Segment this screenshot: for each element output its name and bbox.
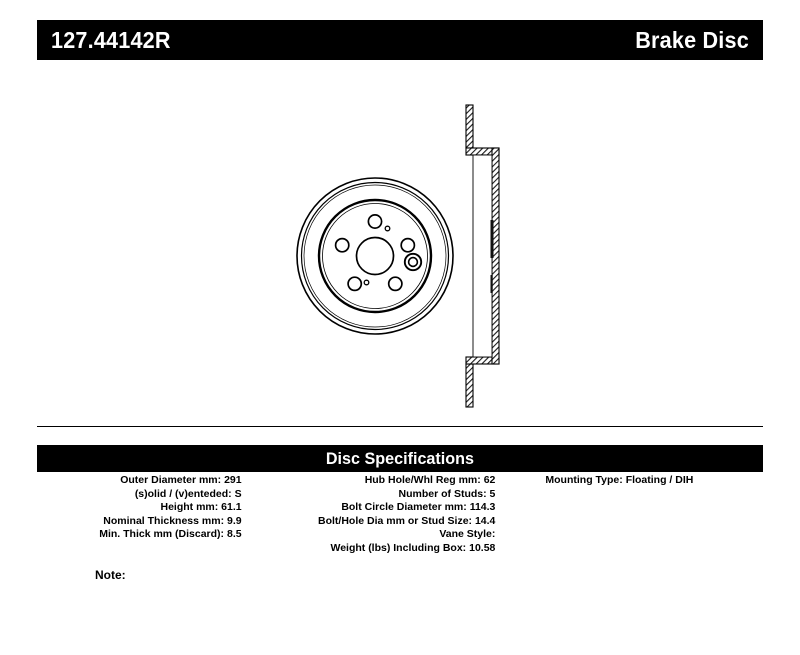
spec-value: 5	[490, 488, 496, 500]
brake-disc-drawing-svg	[0, 70, 800, 420]
spec-label: Weight (lbs) Including Box:	[330, 542, 466, 554]
spec-value: 9.9	[227, 515, 242, 527]
spec-column-middle: Hub Hole/Whl Reg mm: 62 Number of Studs:…	[242, 474, 496, 556]
spec-section-bar: Disc Specifications	[37, 445, 763, 472]
spec-section-title: Disc Specifications	[326, 449, 474, 469]
spec-row: Outer Diameter mm: 291	[37, 474, 242, 488]
spec-label: Height mm:	[160, 501, 218, 513]
stud-hole	[401, 239, 414, 252]
spec-label: Vane Style:	[439, 528, 495, 540]
spec-row: Bolt/Hole Dia mm or Stud Size: 14.4	[254, 515, 496, 529]
spec-row: Mounting Type: Floating / DIH	[545, 474, 763, 488]
spec-value: 14.4	[475, 515, 495, 527]
spec-label: Number of Studs:	[399, 488, 487, 500]
locating-pin-hole	[385, 226, 390, 231]
core-mark	[491, 275, 493, 293]
title-bar: 127.44142R Brake Disc	[37, 20, 763, 60]
part-number-label: 127.44142R	[51, 27, 171, 54]
locating-pin-hole	[364, 280, 369, 285]
spec-row: Height mm: 61.1	[37, 501, 242, 515]
spec-row: Min. Thick mm (Discard): 8.5	[37, 528, 242, 542]
spec-value: 291	[224, 474, 242, 486]
brake-disc-front-view	[297, 178, 453, 334]
spec-columns: Outer Diameter mm: 291 (s)olid / (v)ente…	[37, 474, 763, 556]
stud-hole	[389, 277, 402, 290]
hat-flange-top	[466, 105, 473, 148]
spec-label: Min. Thick mm (Discard):	[99, 528, 224, 540]
spec-value: Floating / DIH	[626, 474, 694, 486]
spec-value: 114.3	[470, 501, 496, 513]
spec-row: Nominal Thickness mm: 9.9	[37, 515, 242, 529]
threaded-hole-inner	[409, 258, 418, 267]
spec-row: Bolt Circle Diameter mm: 114.3	[254, 501, 496, 515]
spec-label: Hub Hole/Whl Reg mm:	[365, 474, 481, 486]
brake-disc-side-section-view	[466, 105, 499, 407]
spec-divider	[37, 426, 763, 427]
spec-row: Vane Style:	[254, 528, 496, 542]
product-type-label: Brake Disc	[635, 27, 749, 54]
note-label: Note:	[95, 568, 126, 582]
spec-value: 10.58	[469, 542, 495, 554]
spec-column-right: Mounting Type: Floating / DIH	[495, 474, 763, 488]
spec-label: Bolt/Hole Dia mm or Stud Size:	[318, 515, 472, 527]
note-block: Note:	[37, 568, 763, 648]
spec-row: (s)olid / (v)enteded: S	[37, 488, 242, 502]
disc-body-cavity	[473, 155, 492, 357]
spec-value: S	[235, 488, 242, 500]
spec-row: Hub Hole/Whl Reg mm: 62	[254, 474, 496, 488]
spec-label: Outer Diameter mm:	[120, 474, 221, 486]
spec-value: 62	[484, 474, 496, 486]
technical-drawing	[0, 70, 800, 420]
hat-flange-bottom	[466, 364, 473, 407]
spec-column-left: Outer Diameter mm: 291 (s)olid / (v)ente…	[37, 474, 242, 542]
spec-label: Nominal Thickness mm:	[103, 515, 224, 527]
spec-label: Mounting Type:	[545, 474, 622, 486]
spec-value: 8.5	[227, 528, 242, 540]
spec-label: (s)olid / (v)enteded:	[135, 488, 232, 500]
stud-hole	[336, 239, 349, 252]
stud-hole	[368, 215, 381, 228]
spec-row: Weight (lbs) Including Box: 10.58	[254, 542, 496, 556]
core-mark	[491, 220, 494, 258]
spec-row: Number of Studs: 5	[254, 488, 496, 502]
spec-value: 61.1	[221, 501, 241, 513]
stud-hole	[348, 277, 361, 290]
spec-label: Bolt Circle Diameter mm:	[341, 501, 466, 513]
